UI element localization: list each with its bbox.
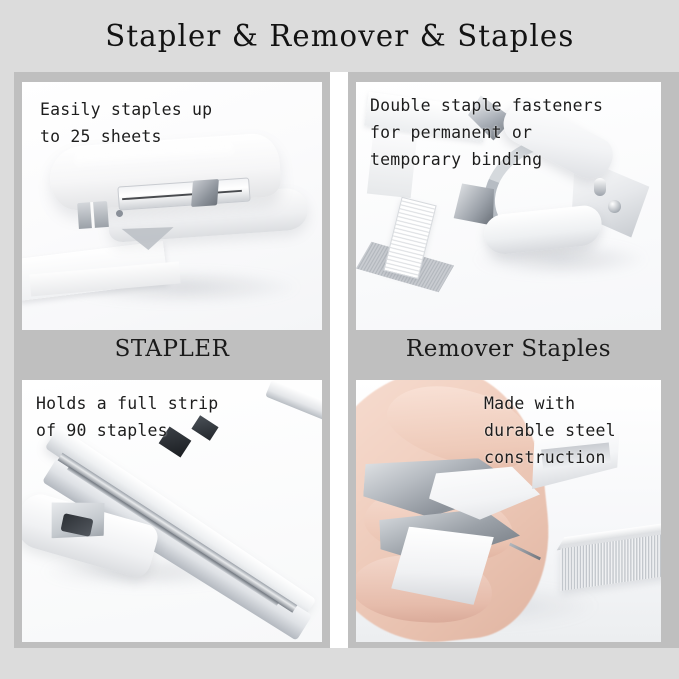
page-title: Stapler & Remover & Staples bbox=[105, 19, 574, 54]
panel-caption-top-left: Easily staples up to 25 sheets bbox=[40, 96, 212, 150]
caption-remover-staples: Remover Staples bbox=[356, 336, 661, 362]
caption-stapler: STAPLER bbox=[22, 336, 322, 362]
stapler-anvil-plate bbox=[122, 227, 175, 251]
panel-top-right: Double staple fasteners for permanent or… bbox=[356, 82, 661, 330]
header-band: Stapler & Remover & Staples bbox=[0, 0, 679, 72]
left-margin-strip bbox=[0, 72, 14, 652]
remover-pin bbox=[594, 178, 606, 196]
column-gutter bbox=[330, 72, 348, 648]
panel-top-left: Easily staples up to 25 sheets bbox=[22, 82, 322, 330]
bottom-margin-strip bbox=[0, 648, 679, 679]
stapler-front-bracket bbox=[77, 201, 109, 229]
remover-rivet bbox=[608, 200, 621, 213]
panel-caption-bottom-right: Made with durable steel construction bbox=[484, 390, 616, 471]
panel-bottom-right: Made with durable steel construction bbox=[356, 380, 661, 642]
panel-caption-bottom-left: Holds a full strip of 90 staples bbox=[36, 390, 218, 444]
stapler-metal-hinge bbox=[191, 179, 219, 207]
product-infographic: Stapler & Remover & Staples Easily stapl… bbox=[0, 0, 679, 679]
panel-bottom-left: Holds a full strip of 90 staples bbox=[22, 380, 322, 642]
panel-caption-top-right: Double staple fasteners for permanent or… bbox=[370, 92, 603, 173]
